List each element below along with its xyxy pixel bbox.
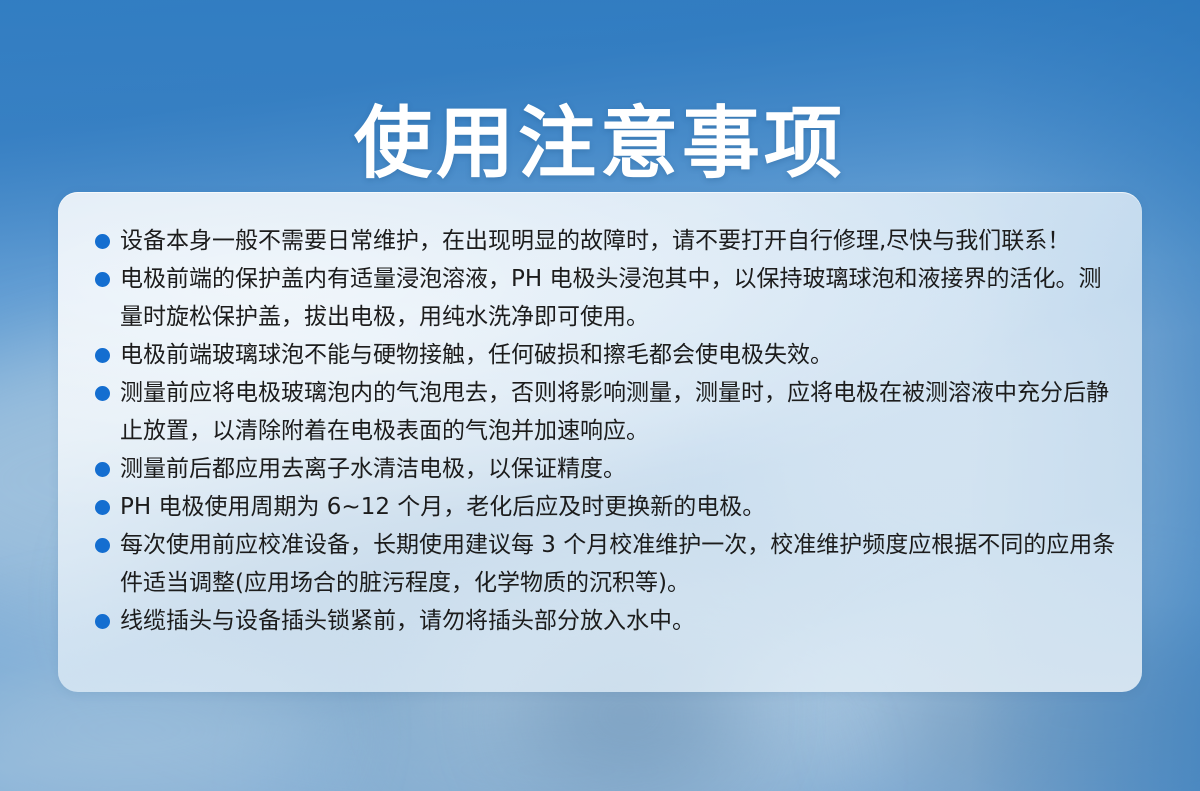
list-item: 测量前后都应用去离子水清洁电极，以保证精度。 <box>92 450 1118 488</box>
list-item: 每次使用前应校准设备，长期使用建议每 3 个月校准维护一次，校准维护频度应根据不… <box>92 526 1118 602</box>
list-item-text: 测量前应将电极玻璃泡内的气泡甩去，否则将影响测量，测量时，应将电极在被测溶液中充… <box>120 374 1118 450</box>
notice-card: 设备本身一般不需要日常维护，在出现明显的故障时，请不要打开自行修理,尽快与我们联… <box>58 192 1142 692</box>
notice-list: 设备本身一般不需要日常维护，在出现明显的故障时，请不要打开自行修理,尽快与我们联… <box>92 222 1118 640</box>
list-item: 电极前端玻璃球泡不能与硬物接触，任何破损和擦毛都会使电极失效。 <box>92 336 1118 374</box>
list-item: 电极前端的保护盖内有适量浸泡溶液，PH 电极头浸泡其中，以保持玻璃球泡和液接界的… <box>92 260 1118 336</box>
list-item: 设备本身一般不需要日常维护，在出现明显的故障时，请不要打开自行修理,尽快与我们联… <box>92 222 1118 260</box>
page-title: 使用注意事项 <box>0 96 1200 192</box>
blue-dot-bullet-icon <box>95 614 110 629</box>
blue-dot-bullet-icon <box>95 234 110 249</box>
list-item-text: 电极前端的保护盖内有适量浸泡溶液，PH 电极头浸泡其中，以保持玻璃球泡和液接界的… <box>120 260 1118 336</box>
poster-root: 使用注意事项 设备本身一般不需要日常维护，在出现明显的故障时，请不要打开自行修理… <box>0 0 1200 791</box>
blue-dot-bullet-icon <box>95 386 110 401</box>
list-item-text: 每次使用前应校准设备，长期使用建议每 3 个月校准维护一次，校准维护频度应根据不… <box>120 526 1118 602</box>
list-item-text: PH 电极使用周期为 6~12 个月，老化后应及时更换新的电极。 <box>120 488 1118 526</box>
list-item-text: 测量前后都应用去离子水清洁电极，以保证精度。 <box>120 450 1118 488</box>
blue-dot-bullet-icon <box>95 348 110 363</box>
blue-dot-bullet-icon <box>95 538 110 553</box>
blue-dot-bullet-icon <box>95 462 110 477</box>
list-item: 测量前应将电极玻璃泡内的气泡甩去，否则将影响测量，测量时，应将电极在被测溶液中充… <box>92 374 1118 450</box>
list-item-text: 电极前端玻璃球泡不能与硬物接触，任何破损和擦毛都会使电极失效。 <box>120 336 1118 374</box>
list-item-text: 设备本身一般不需要日常维护，在出现明显的故障时，请不要打开自行修理,尽快与我们联… <box>120 222 1118 260</box>
list-item-text: 线缆插头与设备插头锁紧前，请勿将插头部分放入水中。 <box>120 602 1118 640</box>
blue-dot-bullet-icon <box>95 500 110 515</box>
blue-dot-bullet-icon <box>95 272 110 287</box>
list-item: 线缆插头与设备插头锁紧前，请勿将插头部分放入水中。 <box>92 602 1118 640</box>
list-item: PH 电极使用周期为 6~12 个月，老化后应及时更换新的电极。 <box>92 488 1118 526</box>
